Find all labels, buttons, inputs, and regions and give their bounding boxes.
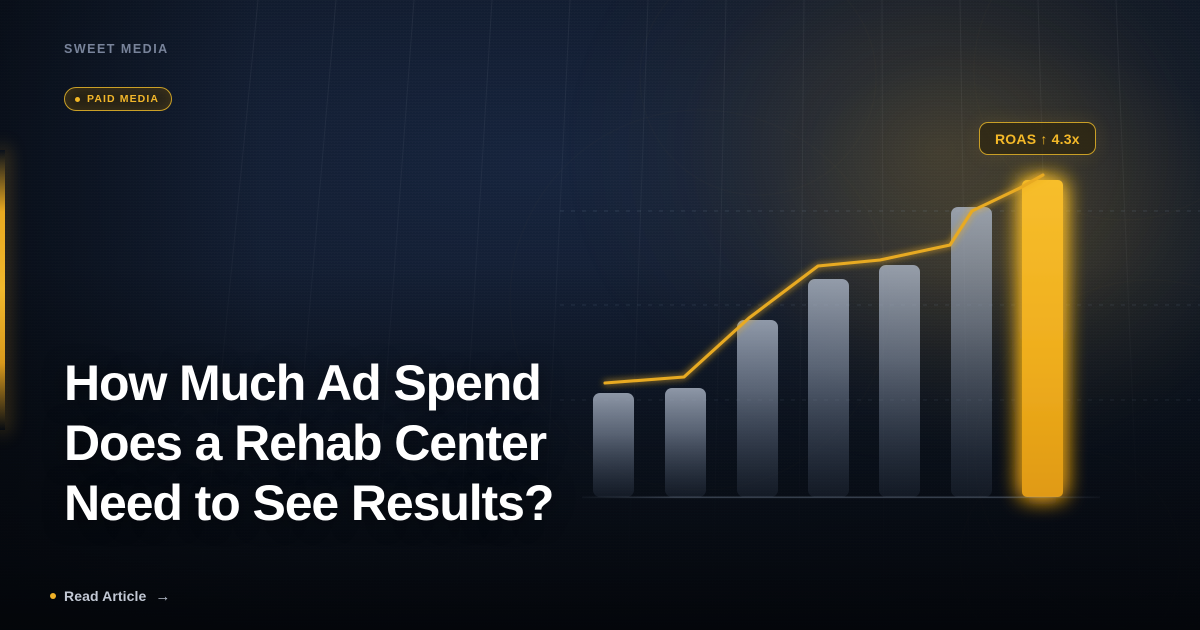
dot-icon — [75, 97, 80, 102]
roas-callout-label: ROAS ↑ 4.3x — [995, 132, 1080, 146]
category-badge[interactable]: PAID MEDIA — [64, 87, 172, 111]
ad-spend-growth-chart — [0, 0, 1200, 630]
brand-kicker: SWEET MEDIA — [64, 42, 169, 56]
roas-callout-badge[interactable]: ROAS ↑ 4.3x — [979, 122, 1096, 155]
bar-2 — [665, 388, 706, 497]
bar-series — [593, 207, 992, 497]
chart-baseline — [582, 497, 1100, 499]
bar-6 — [951, 207, 992, 497]
page-title: How Much Ad Spend Does a Rehab Center Ne… — [64, 354, 624, 533]
arrow-right-icon: → — [155, 589, 170, 604]
bar-3 — [737, 320, 778, 497]
read-article-label: Read Article — [64, 588, 146, 604]
dot-icon — [50, 593, 56, 599]
category-badge-label: PAID MEDIA — [87, 94, 159, 105]
read-article-link[interactable]: Read Article → — [50, 586, 170, 606]
bar-5 — [879, 265, 920, 497]
bar-7-highlight — [1022, 180, 1063, 497]
social-share-card: ROAS ↑ 4.3x SWEET MEDIA PAID MEDIA How M… — [0, 0, 1200, 630]
bar-4 — [808, 279, 849, 497]
